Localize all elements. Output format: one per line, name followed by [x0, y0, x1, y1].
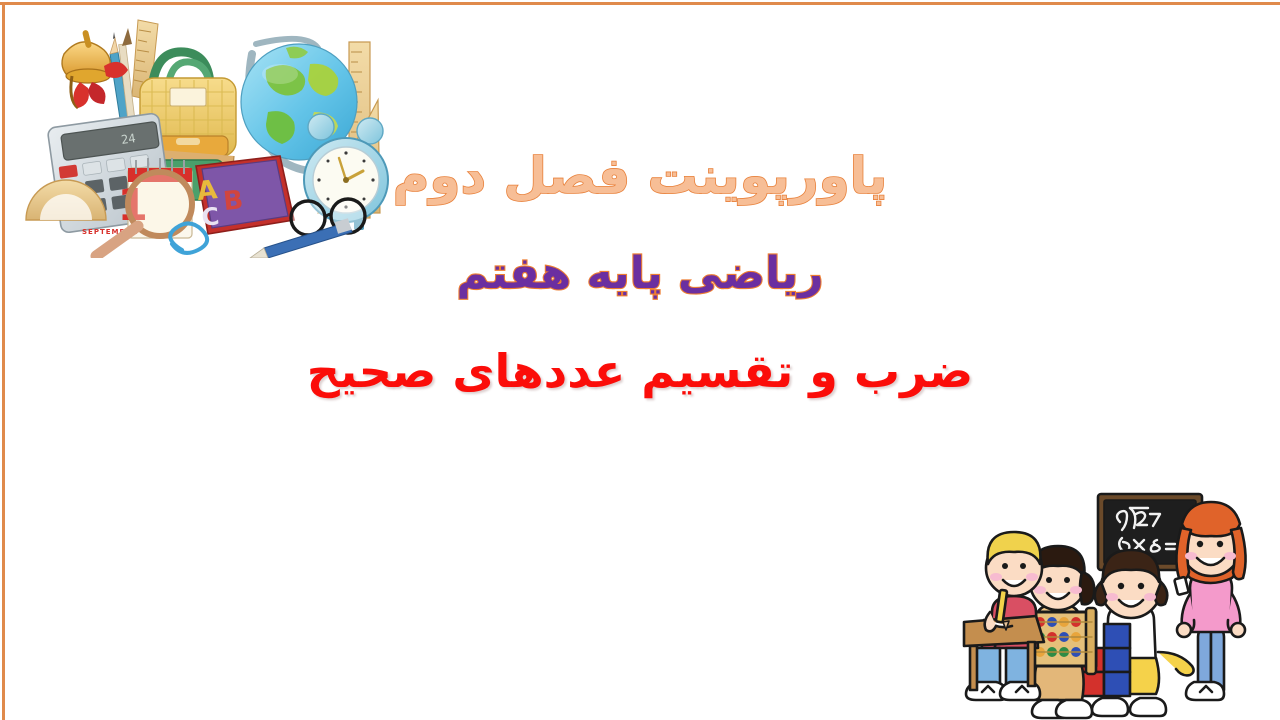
slide-border-left [2, 2, 5, 720]
title-line-topic: ضرب و تقسیم عددهای صحیح [300, 347, 980, 395]
svg-text:C: C [200, 202, 220, 232]
math-kids-clipart [962, 470, 1280, 720]
slide-title-block: پاورپوینت فصل دوم ریاضی پایه هفتم ضرب و … [300, 150, 980, 395]
title-line-chapter: پاورپوینت فصل دوم [300, 150, 980, 203]
svg-text:B: B [222, 185, 245, 217]
slide-border-top [0, 2, 1280, 5]
child-blonde-boy [964, 532, 1044, 700]
presentation-slide: A B C 24 [0, 0, 1280, 720]
chalk-icon [1174, 577, 1189, 595]
svg-text:24: 24 [120, 131, 136, 147]
title-line-subject: ریاضی پایه هفتم [300, 251, 980, 297]
abc-book-icon: A B C [196, 156, 294, 234]
